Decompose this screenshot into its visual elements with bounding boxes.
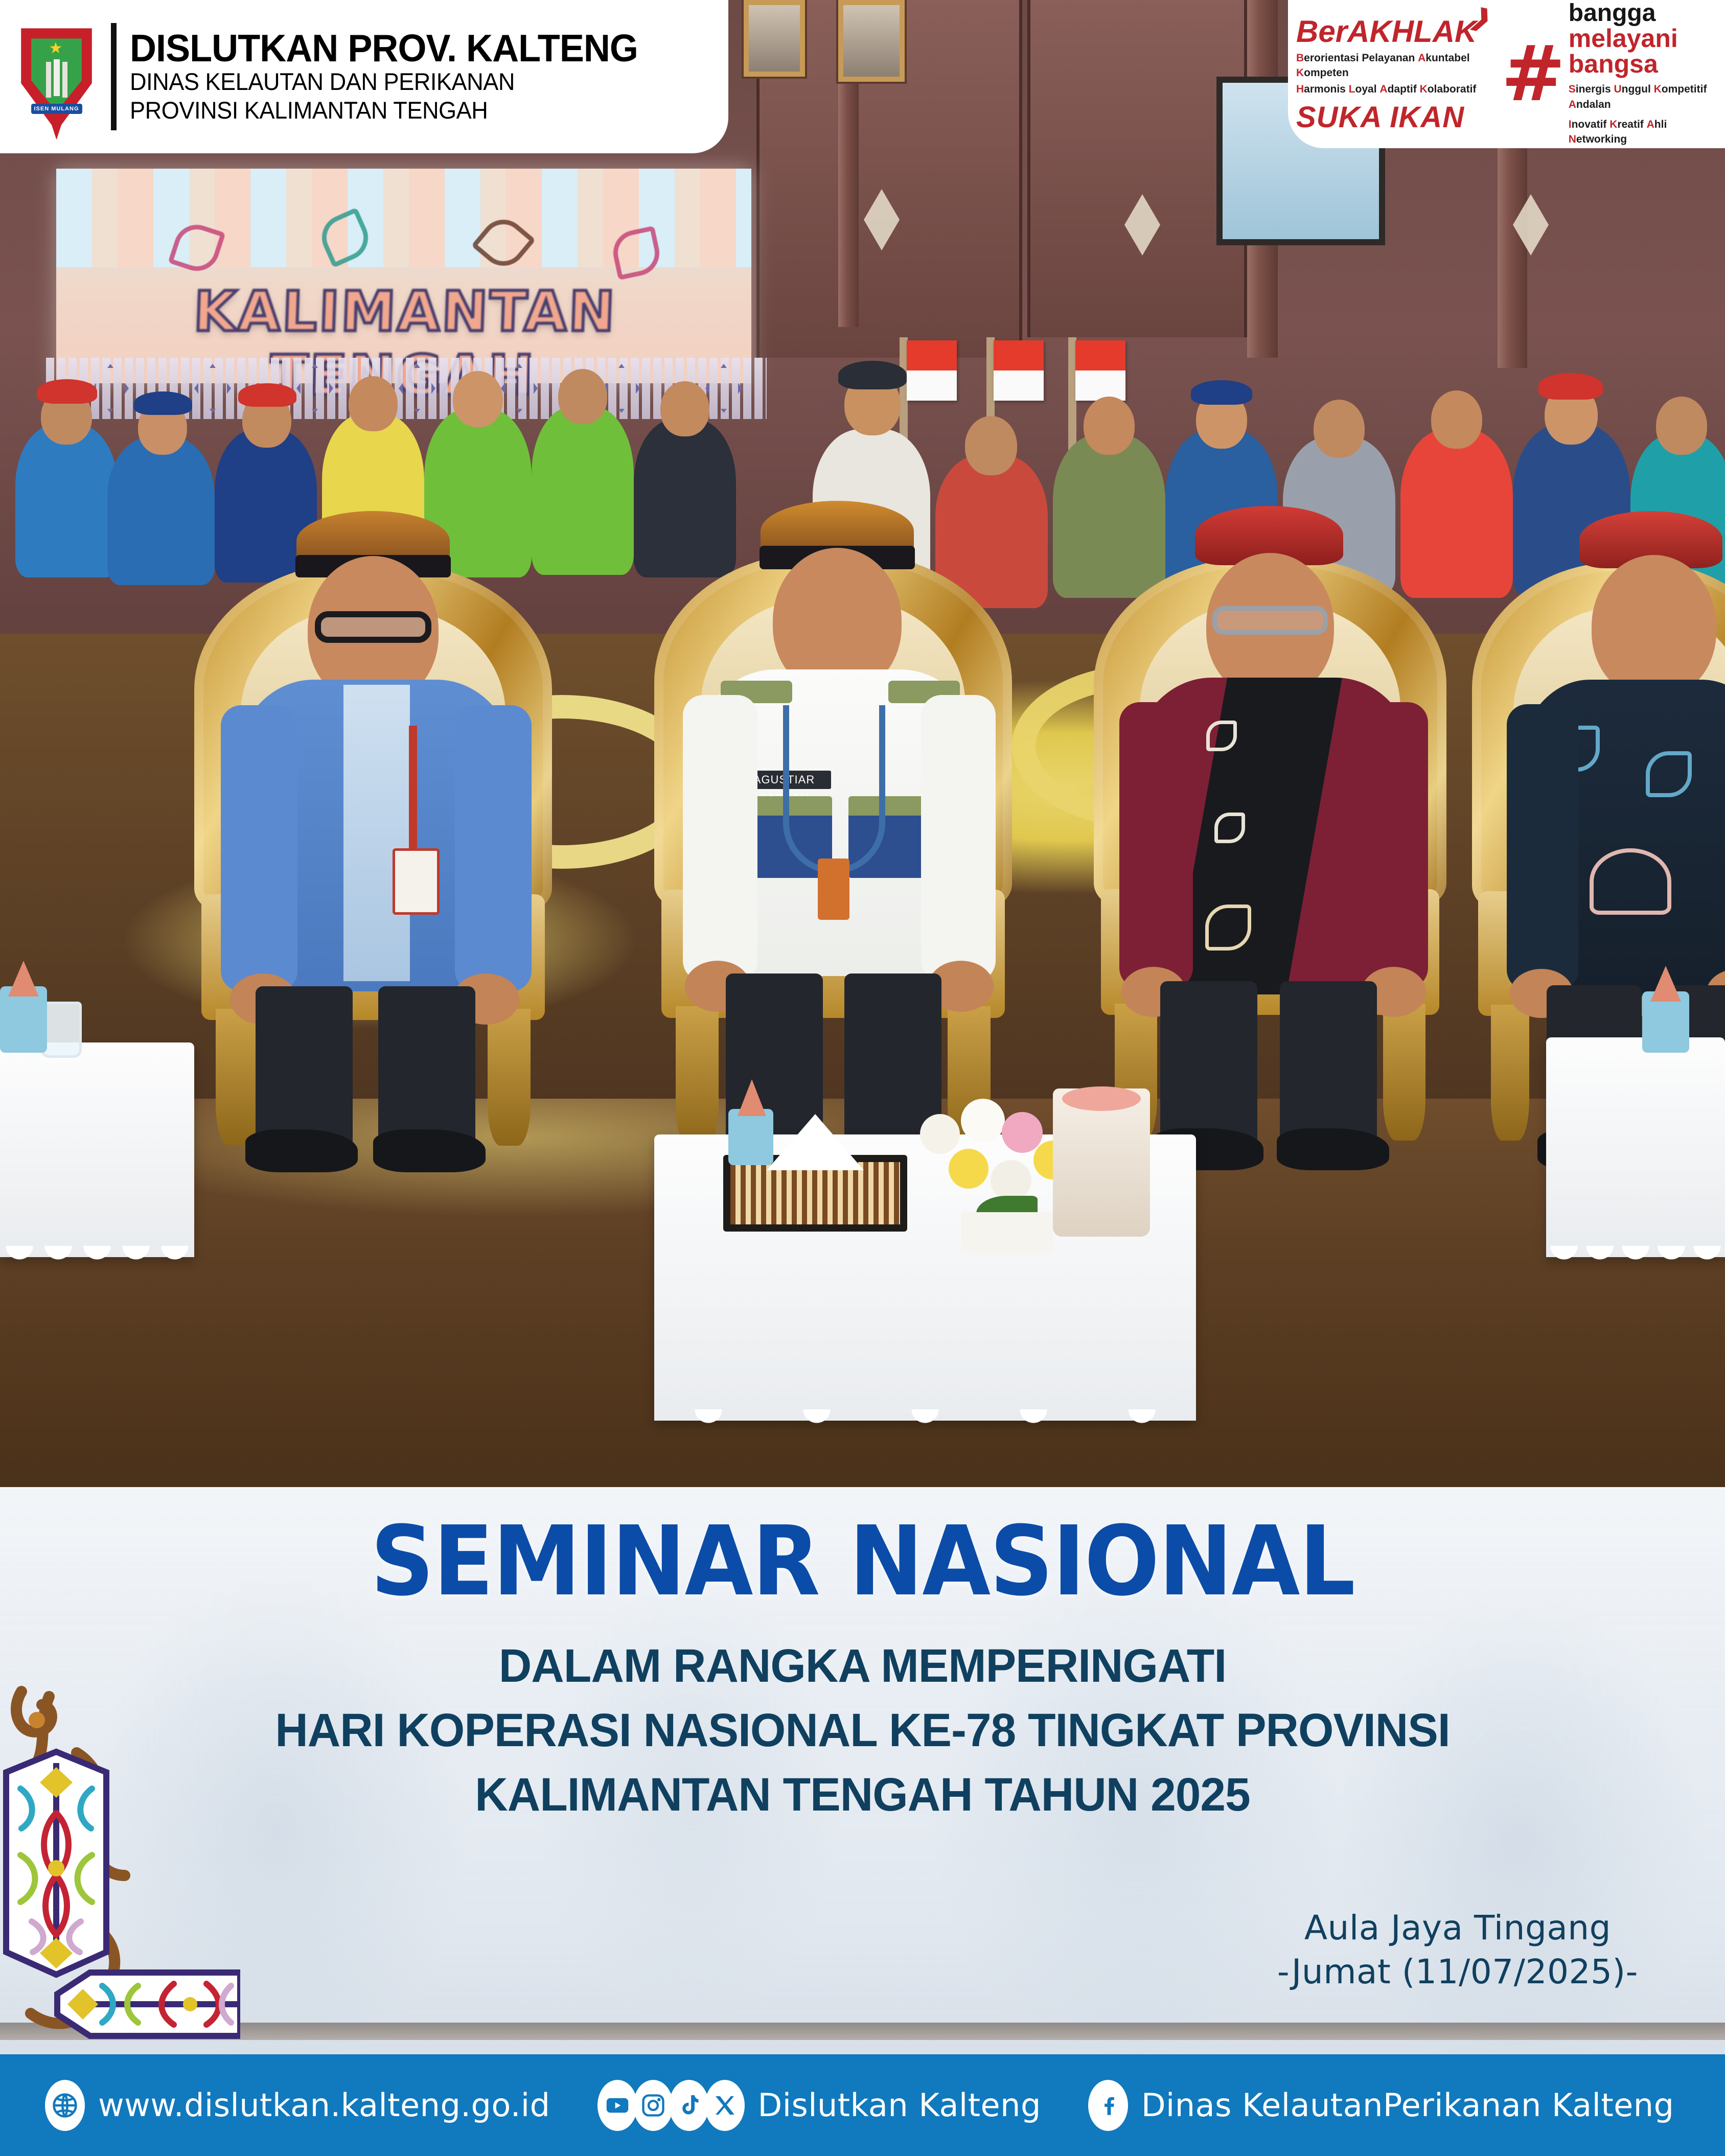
accent-letter: A	[1569, 99, 1576, 110]
official-arm	[1354, 702, 1428, 988]
berakhlak-wordmark: BerAKHLAK ❱	[1296, 14, 1477, 49]
event-subtitle-line-1: DALAM RANGKA MEMPERINGATI	[26, 1639, 1699, 1694]
accent-letter: K	[1609, 119, 1617, 130]
accent-letter: A	[1418, 52, 1425, 64]
agency-short-name: DISLUTKAN PROV. KALTENG	[130, 29, 704, 67]
official-shoe	[1277, 1128, 1389, 1170]
seated-official-2-governor: AGUSTIAR SABRAN	[664, 501, 1012, 1165]
dayak-headband	[1191, 380, 1252, 405]
id-card	[393, 848, 440, 915]
header-divider	[111, 23, 117, 130]
audience-head	[1314, 400, 1365, 458]
official-leg	[256, 986, 353, 1150]
dayak-headband	[1538, 373, 1603, 400]
accent-letter: S	[1569, 83, 1576, 95]
crest-bottom-point	[50, 120, 63, 140]
seated-official-3	[1104, 506, 1441, 1170]
wall-panel	[1027, 0, 1247, 337]
social-handle: Dislutkan Kalteng	[758, 2087, 1041, 2124]
batik-motif	[1646, 751, 1692, 797]
eyeglasses	[315, 611, 431, 643]
batik-motif	[1590, 848, 1671, 915]
vase-opening	[1062, 1086, 1141, 1111]
flower-pot	[961, 1212, 1053, 1253]
event-subtitle-line-3: KALIMANTAN TENGAH TAHUN 2025	[26, 1768, 1699, 1822]
shirt-placket	[343, 685, 410, 981]
audience-head	[453, 371, 503, 427]
banner-text-block: SEMINAR NASIONAL DALAM RANGKA MEMPERINGA…	[0, 1487, 1725, 1822]
berakhlak-bangga-logo: BerAKHLAK ❱ Berorientasi Pelayanan Akunt…	[1288, 1, 1725, 147]
event-title-banner: SEMINAR NASIONAL DALAM RANGKA MEMPERINGA…	[0, 1487, 1725, 2054]
agency-line-2: PROVINSI KALIMANTAN TENGAH	[130, 96, 704, 124]
berakhlak-text: BerAKHLAK	[1296, 14, 1477, 49]
crest-motto-ribbon: ISEN MULANG	[31, 104, 82, 114]
event-photo: KALIMANTAN TENGAH	[0, 0, 1725, 1490]
official-leg	[378, 986, 475, 1150]
jacket-embroidery	[1206, 721, 1237, 751]
hashtag-icon: #	[1501, 44, 1566, 104]
dayak-headband	[134, 391, 192, 415]
accent-letter: N	[1569, 133, 1576, 145]
berakhlak-caret-icon: ❱	[1468, 2, 1493, 33]
accent-letter: A	[1647, 119, 1654, 130]
audience-head	[1084, 397, 1135, 455]
tiktok-icon[interactable]	[669, 2080, 709, 2131]
header-values-panel: BerAKHLAK ❱ Berorientasi Pelayanan Akunt…	[1288, 0, 1725, 148]
header-agency-panel: ISEN MULANG DISLUTKAN PROV. KALTENG DINA…	[0, 0, 728, 153]
audience-head	[660, 381, 709, 436]
table-cloth	[1546, 1037, 1725, 1257]
globe-icon	[45, 2080, 85, 2131]
flower-petal	[1002, 1112, 1043, 1153]
dayak-motif	[609, 226, 664, 281]
official-arm	[455, 705, 532, 991]
youtube-icon[interactable]	[597, 2080, 637, 2131]
seated-official-1	[194, 511, 552, 1175]
event-main-title: SEMINAR NASIONAL	[69, 1514, 1656, 1610]
event-venue-and-date: Aula Jaya Tingang -Jumat (11/07/2025)-	[1277, 1906, 1638, 1994]
audience-head	[965, 416, 1017, 475]
audience-head	[349, 376, 398, 431]
table-cloth	[0, 1042, 194, 1257]
flower-petal	[949, 1149, 988, 1189]
facebook-icon[interactable]	[1088, 2080, 1128, 2131]
official-leg	[1160, 981, 1257, 1150]
accent-letter: L	[1349, 83, 1355, 95]
footer-website-group[interactable]: www.dislutkan.kalteng.go.id	[45, 2080, 550, 2131]
bangga-line-1: bangga	[1569, 1, 1717, 26]
eyeglasses	[1212, 606, 1328, 635]
official-arm	[921, 695, 996, 981]
footer-contact-bar: www.dislutkan.kalteng.go.id Dislutkan Ka…	[0, 2054, 1725, 2156]
official-shoe	[245, 1129, 358, 1172]
dayak-headband	[37, 379, 97, 404]
dayak-motif	[471, 211, 536, 275]
side-table-left	[0, 1042, 194, 1257]
official-arm	[1119, 702, 1193, 988]
accent-letter: K	[1296, 67, 1304, 79]
official-leg	[1280, 981, 1377, 1150]
website-url: www.dislutkan.kalteng.go.id	[98, 2087, 550, 2124]
berakhlak-block: BerAKHLAK ❱ Berorientasi Pelayanan Akunt…	[1296, 14, 1493, 134]
official-arm	[683, 695, 757, 981]
bangga-melayani-bangsa-block: # bangga melayani bangsa Sinergis Unggul…	[1501, 1, 1717, 147]
accent-letter: K	[1654, 83, 1662, 95]
bangga-text-block: bangga melayani bangsa Sinergis Unggul K…	[1569, 1, 1717, 147]
kalteng-provincial-crest-icon: ISEN MULANG	[14, 22, 99, 132]
accent-letter: H	[1296, 83, 1304, 95]
instagram-icon[interactable]	[633, 2080, 673, 2131]
official-shoe	[373, 1129, 486, 1172]
facebook-page-name: Dinas KelautanPerikanan Kalteng	[1141, 2087, 1674, 2124]
bangga-lines: bangga melayani bangsa	[1569, 1, 1717, 77]
stage-backdrop: KALIMANTAN TENGAH	[56, 169, 751, 383]
bangga-desc-1: Sinergis Unggul Kompetitif Andalan	[1569, 82, 1717, 112]
accent-letter: I	[1569, 119, 1572, 130]
accent-letter: K	[1420, 83, 1428, 95]
jacket-embroidery	[1205, 905, 1251, 951]
footer-social-group[interactable]: Dislutkan Kalteng	[597, 2080, 1041, 2131]
flower-petal	[920, 1114, 960, 1154]
accent-letter: U	[1614, 83, 1621, 95]
wall-picture-frame	[838, 0, 905, 82]
footer-facebook-group[interactable]: Dinas KelautanPerikanan Kalteng	[1088, 2080, 1674, 2131]
cone-cup	[728, 1109, 773, 1165]
dayak-motif	[315, 207, 376, 268]
official-arm	[221, 705, 297, 991]
agency-line-1: DINAS KELAUTAN DAN PERIKANAN	[130, 67, 704, 96]
x-twitter-icon[interactable]	[705, 2080, 745, 2131]
bangga-line-3: bangsa	[1569, 51, 1717, 77]
dayak-headband	[238, 383, 296, 407]
necklace-pendant	[818, 859, 849, 920]
berakhlak-desc-1: Berorientasi Pelayanan Akuntabel Kompete…	[1296, 51, 1493, 80]
official-arm	[1507, 704, 1578, 990]
official-head	[1592, 555, 1716, 698]
beaded-necklace	[783, 705, 885, 874]
flower-petal	[991, 1160, 1031, 1201]
event-date: -Jumat (11/07/2025)-	[1277, 1950, 1638, 1994]
wall-picture-frame	[744, 0, 805, 77]
side-table-right	[1546, 1037, 1725, 1257]
bangga-desc-2: Inovatif Kreatif Ahli Networking	[1569, 117, 1717, 147]
accent-letter: A	[1379, 83, 1387, 95]
event-venue: Aula Jaya Tingang	[1277, 1906, 1638, 1950]
audience-head	[1431, 390, 1482, 449]
id-card-lanyard	[409, 726, 417, 859]
audience-head	[558, 369, 607, 424]
suka-ikan-tagline: SUKA IKAN	[1296, 100, 1493, 134]
header-agency-text: DISLUTKAN PROV. KALTENG DINAS KELAUTAN D…	[130, 29, 728, 124]
jacket-embroidery	[1214, 813, 1245, 843]
crest-mandau-icon	[54, 59, 60, 96]
event-subtitle-line-2: HARI KOPERASI NASIONAL KE-78 TINGKAT PRO…	[26, 1704, 1699, 1758]
dayak-headband	[838, 361, 907, 389]
berakhlak-desc-2: Harmonis Loyal Adaptif Kolaboratif	[1296, 82, 1493, 97]
dayak-motif	[168, 219, 225, 276]
water-glass	[41, 1002, 82, 1058]
audience-person	[15, 424, 118, 577]
flower-petal	[961, 1099, 1005, 1143]
audience-head	[1656, 397, 1707, 455]
accent-letter: B	[1296, 52, 1304, 64]
banner-bottom-strip	[0, 2023, 1725, 2040]
bangga-line-2: melayani	[1569, 26, 1717, 51]
